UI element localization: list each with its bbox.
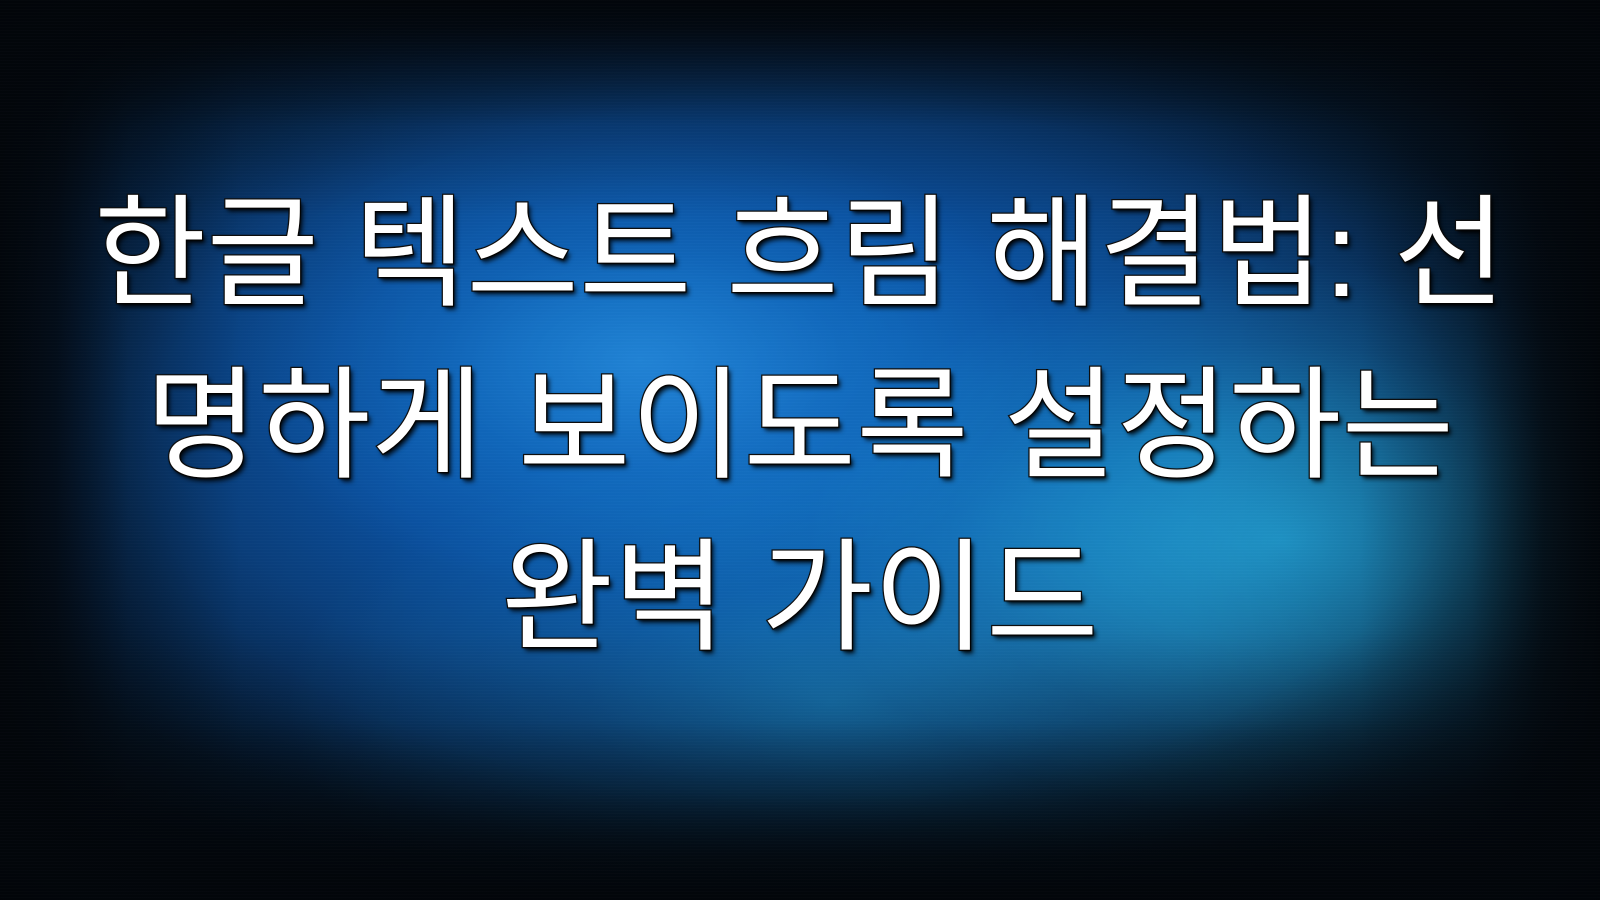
title-line-3: 완벽 가이드 (40, 512, 1560, 684)
title-card: 한글 텍스트 흐림 해결법: 선 명하게 보이도록 설정하는 완벽 가이드 (0, 0, 1600, 900)
title-line-2: 명하게 보이도록 설정하는 (40, 340, 1560, 512)
title-line-1: 한글 텍스트 흐림 해결법: 선 (40, 168, 1560, 340)
page-title: 한글 텍스트 흐림 해결법: 선 명하게 보이도록 설정하는 완벽 가이드 (0, 168, 1600, 684)
